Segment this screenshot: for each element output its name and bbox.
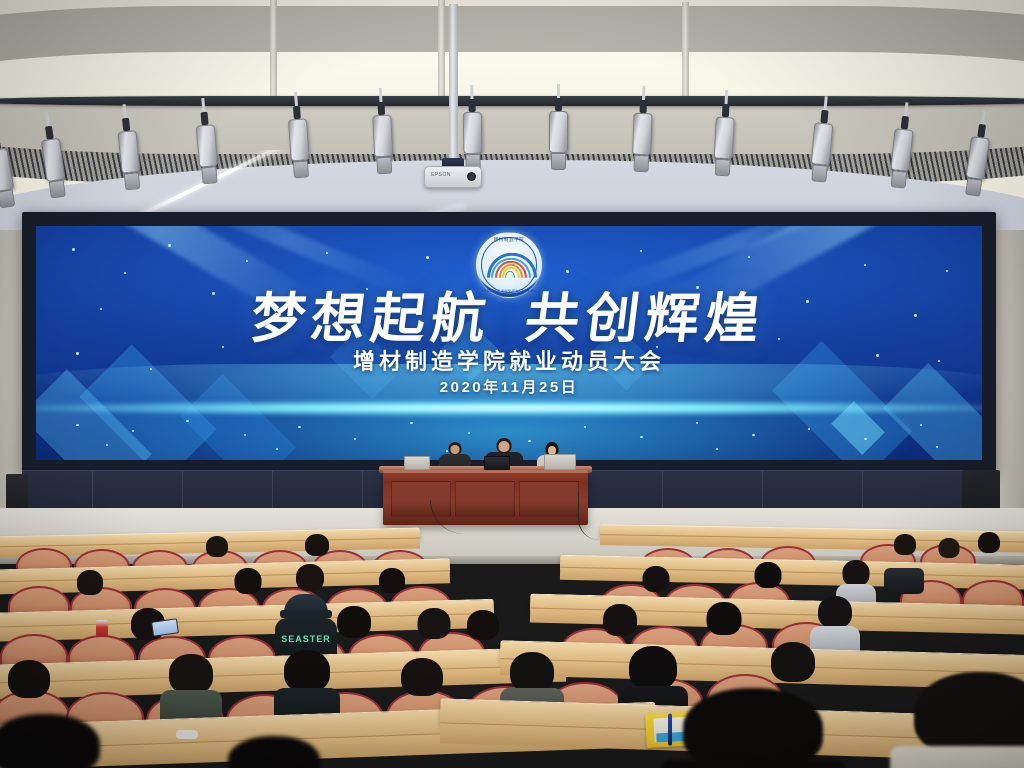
face	[451, 445, 460, 454]
screen-headline: 梦想起航共创辉煌	[36, 274, 982, 353]
audience-person	[748, 562, 788, 604]
audience-person	[200, 536, 234, 566]
face	[499, 441, 510, 452]
auditorium-photo: EPSON	[0, 0, 1024, 768]
jacket-brand-text: SEASTER	[281, 634, 331, 644]
cap-brim	[280, 610, 332, 618]
stage-spotlight	[370, 88, 394, 175]
stage-spotlight	[888, 101, 917, 189]
stage-spotlight	[192, 97, 219, 184]
emblem-chinese-text: 增材制造学院	[477, 237, 541, 243]
audience-person	[70, 570, 110, 610]
projector: EPSON	[424, 166, 482, 188]
screen-subtitle: 增材制造学院就业动员大会	[36, 344, 982, 376]
projector-pole	[449, 4, 458, 160]
headline-right: 共创辉煌	[522, 286, 770, 350]
foreground-person-left	[0, 714, 120, 768]
foreground-person-center	[660, 688, 846, 768]
stage-spotlight	[36, 111, 68, 199]
stage-spotlight	[631, 86, 654, 173]
stage-spotlight	[461, 85, 482, 171]
stage-spotlight	[808, 95, 835, 182]
stage-spotlight-row	[0, 0, 1024, 230]
audience-person	[160, 654, 222, 724]
backpack	[884, 568, 924, 594]
foreground-person-left2	[214, 736, 334, 768]
laptop-right	[544, 454, 576, 470]
foreground-person-right	[890, 672, 1024, 768]
drink-cup	[96, 620, 108, 636]
led-screen-frame: 增材制造学院 ADDITIVE MANUFACTURING	[22, 212, 996, 474]
led-screen: 增材制造学院 ADDITIVE MANUFACTURING	[36, 226, 982, 460]
stage-spotlight	[285, 91, 311, 178]
equipment-center	[484, 456, 510, 470]
laptop-left	[404, 456, 430, 470]
screen-date: 2020年11月25日	[36, 376, 982, 397]
pen-white	[176, 730, 198, 739]
stage-spotlight	[0, 121, 17, 209]
audience-person	[300, 534, 334, 564]
audience-person	[888, 534, 922, 564]
audience-area: SEASTER	[0, 524, 1024, 768]
projector-brand-label: EPSON	[431, 172, 451, 178]
headline-left: 梦想起航	[248, 286, 496, 350]
audience-person	[972, 532, 1006, 562]
stage-spotlight	[712, 90, 736, 177]
audience-person	[228, 568, 268, 608]
stage-spotlight	[962, 109, 994, 197]
projector-lens-icon	[467, 172, 476, 181]
stage-spotlight	[114, 103, 143, 191]
stage-spotlight	[548, 84, 568, 170]
